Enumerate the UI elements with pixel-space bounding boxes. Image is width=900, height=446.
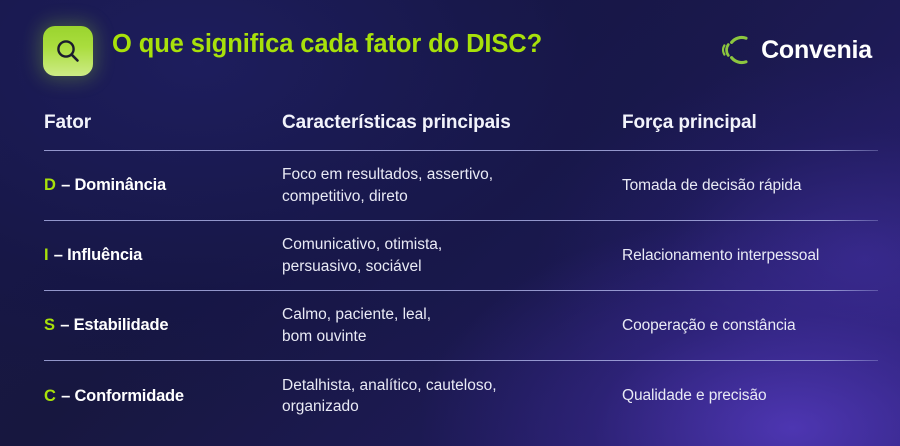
disc-infographic: O que significa cada fator do DISC? Conv…	[0, 0, 900, 446]
factor-label: C – Conformidade	[44, 387, 282, 406]
brand-name: Convenia	[761, 38, 872, 63]
factor-separator: –	[57, 176, 75, 194]
factor-letter: S	[44, 316, 55, 334]
brand-logo: Convenia	[722, 28, 872, 72]
factor-separator: –	[56, 316, 74, 334]
table-row: I – Influência Comunicativo, otimista,pe…	[44, 221, 878, 290]
strength-cell: Relacionamento interpessoal	[622, 247, 878, 265]
factor-name: Dominância	[74, 176, 166, 194]
infographic-header: O que significa cada fator do DISC? Conv…	[0, 0, 900, 96]
traits-cell: Calmo, paciente, leal,bom ouvinte	[282, 304, 622, 347]
column-header-forca: Força principal	[622, 100, 878, 134]
traits-line-2: bom ouvinte	[282, 326, 622, 347]
table-row: S – Estabilidade Calmo, paciente, leal,b…	[44, 291, 878, 360]
convenia-arc-logo	[722, 33, 756, 67]
factor-letter: I	[44, 246, 48, 264]
table-row: D – Dominância Foco em resultados, asser…	[44, 151, 878, 220]
traits-line-2: persuasivo, sociável	[282, 256, 622, 277]
page-title: O que significa cada fator do DISC?	[112, 30, 542, 59]
strength-cell: Tomada de decisão rápida	[622, 177, 878, 195]
traits-cell: Detalhista, analítico, cauteloso,organiz…	[282, 375, 622, 418]
factor-label: I – Influência	[44, 246, 282, 265]
traits-line-1: Detalhista, analítico, cauteloso,	[282, 375, 622, 396]
strength-cell: Qualidade e precisão	[622, 387, 878, 405]
factor-letter: C	[44, 387, 56, 405]
column-header-fator: Fator	[44, 100, 282, 134]
disc-table: Fator Características principais Força p…	[44, 100, 878, 431]
strength-cell: Cooperação e constância	[622, 317, 878, 335]
column-header-caracteristicas: Características principais	[282, 100, 622, 134]
traits-line-1: Foco em resultados, assertivo,	[282, 164, 622, 185]
factor-name: Conformidade	[74, 387, 183, 405]
table-row: C – Conformidade Detalhista, analítico, …	[44, 361, 878, 431]
factor-label: D – Dominância	[44, 176, 282, 195]
factor-separator: –	[57, 387, 75, 405]
factor-name: Estabilidade	[74, 316, 169, 334]
traits-line-2: competitivo, direto	[282, 186, 622, 207]
factor-separator: –	[49, 246, 67, 264]
factor-letter: D	[44, 176, 56, 194]
traits-cell: Foco em resultados, assertivo,competitiv…	[282, 164, 622, 207]
factor-name: Influência	[67, 246, 142, 264]
traits-cell: Comunicativo, otimista,persuasivo, sociá…	[282, 234, 622, 277]
search-icon	[43, 26, 93, 76]
traits-line-1: Comunicativo, otimista,	[282, 234, 622, 255]
traits-line-1: Calmo, paciente, leal,	[282, 304, 622, 325]
table-header-row: Fator Características principais Força p…	[44, 100, 878, 150]
traits-line-2: organizado	[282, 396, 622, 417]
factor-label: S – Estabilidade	[44, 316, 282, 335]
